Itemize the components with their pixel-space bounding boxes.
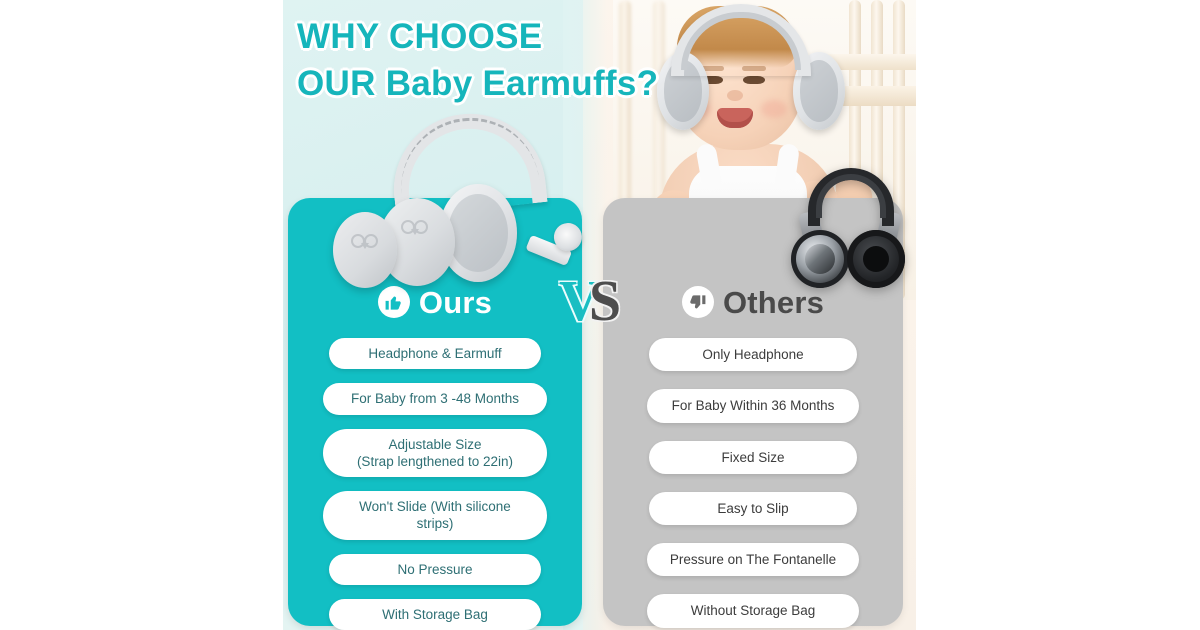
- baby-nose: [727, 90, 743, 101]
- versus-letter-s: S: [589, 272, 619, 330]
- owl-pattern-icon: [351, 234, 377, 252]
- infographic-content: WHY CHOOSE OUR Baby Earmuffs? Ours Headp…: [283, 0, 916, 630]
- headphone-cup-right: [847, 230, 905, 288]
- ours-feature-pill: No Pressure: [329, 554, 541, 585]
- versus-emblem: V S: [559, 272, 619, 330]
- headline-line-1: WHY CHOOSE: [297, 14, 658, 61]
- others-feature-list: Only Headphone For Baby Within 36 Months…: [603, 338, 903, 628]
- others-feature-pill: Easy to Slip: [649, 492, 857, 525]
- others-feature-pill: Without Storage Bag: [647, 594, 859, 627]
- ours-feature-list: Headphone & Earmuff For Baby from 3 -48 …: [288, 338, 582, 630]
- others-feature-pill: Pressure on The Fontanelle: [647, 543, 859, 576]
- others-feature-pill: Only Headphone: [649, 338, 857, 371]
- ours-feature-pill: Headphone & Earmuff: [329, 338, 541, 369]
- owl-pattern-icon: [401, 220, 427, 238]
- baby-eye: [743, 76, 765, 84]
- competitor-headphones-image: [791, 168, 909, 290]
- page-title: WHY CHOOSE OUR Baby Earmuffs?: [297, 14, 658, 107]
- ours-feature-pill: Won't Slide (With silicone strips): [323, 491, 547, 540]
- ours-feature-pill: For Baby from 3 -48 Months: [323, 383, 547, 414]
- others-title: Others: [723, 287, 824, 318]
- ours-feature-pill: Adjustable Size (Strap lengthened to 22i…: [323, 429, 547, 478]
- baby-cheek: [761, 100, 787, 118]
- thumbs-down-icon: [682, 286, 714, 318]
- headline-line-2: OUR Baby Earmuffs?: [297, 61, 658, 108]
- others-feature-pill: Fixed Size: [649, 441, 857, 474]
- ours-feature-pill: With Storage Bag: [329, 599, 541, 630]
- others-feature-pill: For Baby Within 36 Months: [647, 389, 859, 422]
- page-stage: WHY CHOOSE OUR Baby Earmuffs? Ours Headp…: [0, 0, 1200, 630]
- product-image: [291, 112, 611, 292]
- headphone-cup-left: [791, 230, 849, 288]
